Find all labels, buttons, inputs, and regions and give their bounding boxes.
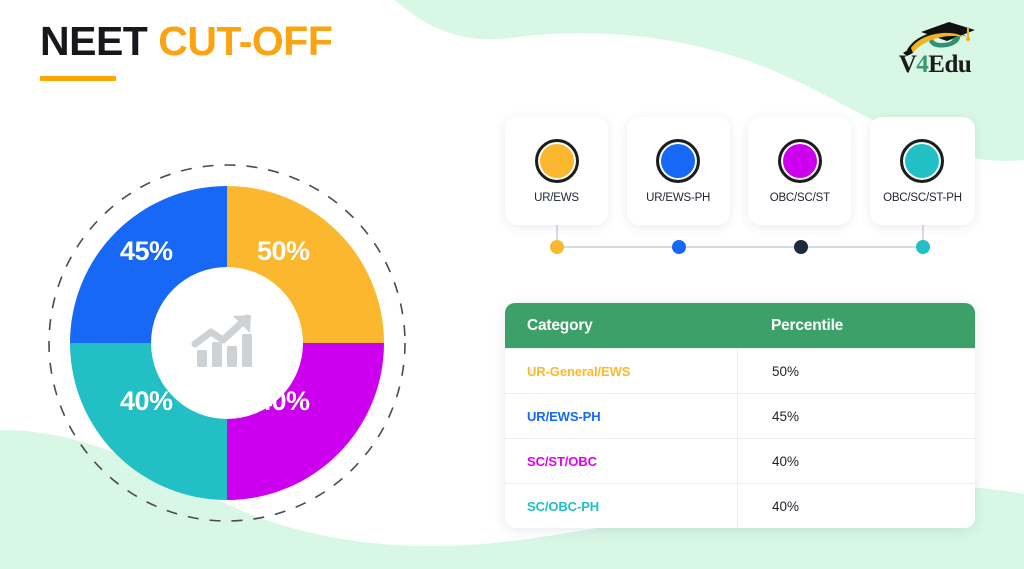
table-column-header-category: Category	[505, 317, 737, 335]
table-row[interactable]: SC/OBC-PH 40%	[505, 483, 975, 528]
donut-chart: 50% 45% 40% 40%	[42, 158, 412, 528]
table-row[interactable]: UR/EWS-PH 45%	[505, 393, 975, 438]
table-row[interactable]: SC/ST/OBC 40%	[505, 438, 975, 483]
legend-color-swatch-icon	[900, 139, 944, 183]
legend-color-swatch-icon	[535, 139, 579, 183]
legend-connector-line	[505, 225, 975, 259]
logo-wordmark: V4Edu	[899, 52, 972, 77]
slice-label-top-left: 45%	[120, 236, 173, 267]
legend-label: OBC/SC/ST	[770, 192, 830, 204]
legend-label: UR/EWS-PH	[646, 192, 710, 204]
connector-dot-teal	[916, 240, 930, 254]
slice-label-top-right: 50%	[257, 236, 310, 267]
logo-letter-v: V	[899, 51, 917, 78]
page-header: NEET CUT-OFF	[40, 20, 332, 81]
table-cell-category: SC/OBC-PH	[505, 499, 737, 514]
legend-card-ur-ews[interactable]: UR/EWS	[505, 117, 608, 225]
legend-card-ur-ews-ph[interactable]: UR/EWS-PH	[627, 117, 730, 225]
title-accent: CUT-OFF	[158, 18, 332, 64]
legend-color-swatch-icon	[778, 139, 822, 183]
connector-dot-blue	[672, 240, 686, 254]
table-cell-percentile: 45%	[737, 394, 975, 438]
legend-label: OBC/SC/ST-PH	[883, 192, 962, 204]
title-primary: NEET	[40, 18, 147, 64]
table-column-header-percentile: Percentile	[737, 317, 975, 335]
growth-chart-icon	[191, 312, 263, 374]
connector-path	[557, 225, 923, 247]
infographic-canvas: NEET CUT-OFF V4Edu 50% 45% 40%	[0, 0, 1024, 569]
page-title: NEET CUT-OFF	[40, 20, 332, 63]
cutoff-table: Category Percentile UR-General/EWS 50% U…	[505, 303, 975, 528]
connector-dot-orange	[550, 240, 564, 254]
logo-text-edu: Edu	[928, 51, 971, 78]
legend-label: UR/EWS	[534, 192, 579, 204]
logo-number-four: 4	[916, 51, 928, 78]
title-underline-rule	[40, 76, 116, 81]
legend-card-obc-sc-st[interactable]: OBC/SC/ST	[748, 117, 851, 225]
donut-center-hub	[151, 267, 303, 419]
legend-color-swatch-icon	[656, 139, 700, 183]
table-header-row: Category Percentile	[505, 303, 975, 348]
table-cell-percentile: 40%	[737, 439, 975, 483]
connector-dot-navy	[794, 240, 808, 254]
table-cell-category: UR/EWS-PH	[505, 409, 737, 424]
graduation-cap-icon	[891, 16, 979, 56]
legend-card-group: UR/EWS UR/EWS-PH OBC/SC/ST OBC/SC/ST-PH	[505, 117, 975, 225]
table-cell-category: SC/ST/OBC	[505, 454, 737, 469]
table-row[interactable]: UR-General/EWS 50%	[505, 348, 975, 393]
table-cell-percentile: 40%	[737, 484, 975, 528]
slice-label-bottom-left: 40%	[120, 386, 173, 417]
brand-logo[interactable]: V4Edu	[880, 16, 990, 84]
legend-card-obc-sc-st-ph[interactable]: OBC/SC/ST-PH	[870, 117, 975, 225]
table-cell-percentile: 50%	[737, 349, 975, 393]
table-cell-category: UR-General/EWS	[505, 364, 737, 379]
